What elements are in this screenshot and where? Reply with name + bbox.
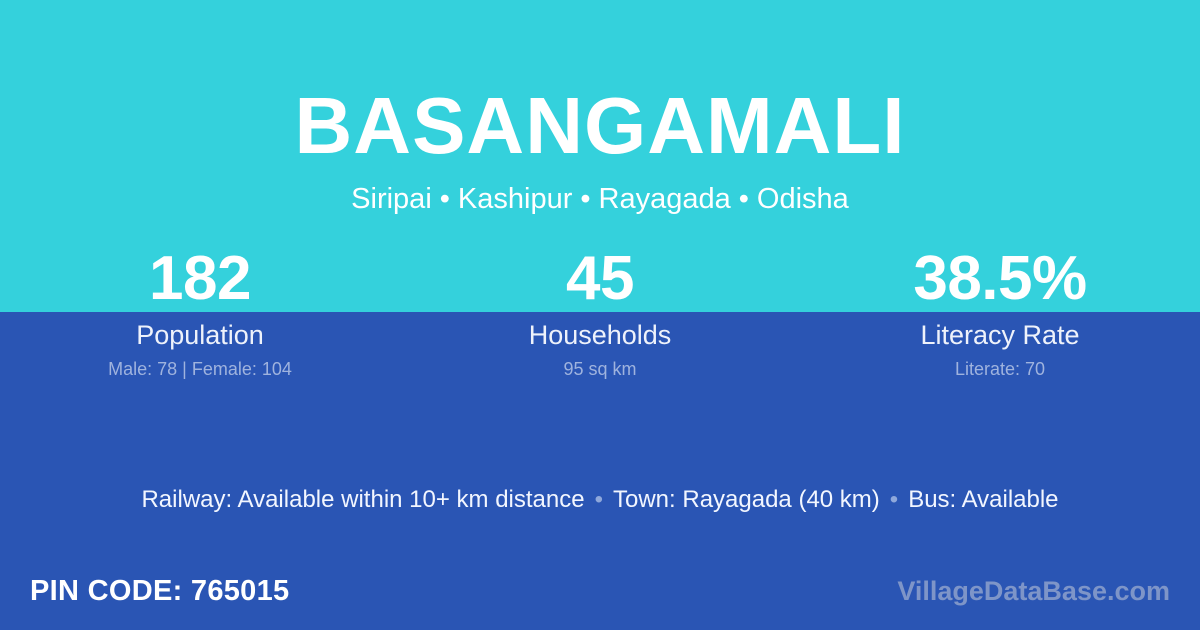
breadcrumb-separator: • [572,183,598,215]
infra-town: Town: Rayagada (40 km) [613,486,880,513]
breadcrumb-village: Siripai [351,183,432,215]
breadcrumb-separator: • [432,183,458,215]
breadcrumb-district: Rayagada [599,183,731,215]
breadcrumb-separator: • [731,183,757,215]
breadcrumb-location: Siripai•Kashipur•Rayagada•Odisha [0,181,1200,217]
stat-sublabel: Male: 78 | Female: 104 [0,358,400,380]
breadcrumb-state: Odisha [757,183,849,215]
stat-label: Households [400,319,800,351]
page-title: BASANGAMALI [0,83,1200,169]
stat-value: 182 [0,246,400,312]
pin-code: PIN CODE: 765015 [30,574,289,608]
stat-literacy-rate: 38.5% Literacy Rate Literate: 70 [800,246,1200,380]
stat-population: 182 Population Male: 78 | Female: 104 [0,246,400,380]
stat-label: Literacy Rate [800,319,1200,351]
site-watermark: VillageDataBase.com [897,575,1170,607]
infrastructure-line: Railway: Available within 10+ km distanc… [0,484,1200,516]
infra-railway: Railway: Available within 10+ km distanc… [141,486,584,513]
stat-sublabel: 95 sq km [400,358,800,380]
stat-label: Population [0,319,400,351]
infra-separator: • [585,486,613,513]
stat-households: 45 Households 95 sq km [400,246,800,380]
village-info-card: BASANGAMALI Siripai•Kashipur•Rayagada•Od… [0,0,1200,630]
breadcrumb-block: Kashipur [458,183,572,215]
stat-value: 38.5% [800,246,1200,312]
stat-sublabel: Literate: 70 [800,358,1200,380]
stats-row: 182 Population Male: 78 | Female: 104 45… [0,246,1200,380]
infra-separator: • [880,486,908,513]
footer-bar: PIN CODE: 765015 VillageDataBase.com [0,552,1200,630]
stat-value: 45 [400,246,800,312]
infra-bus: Bus: Available [908,486,1058,513]
